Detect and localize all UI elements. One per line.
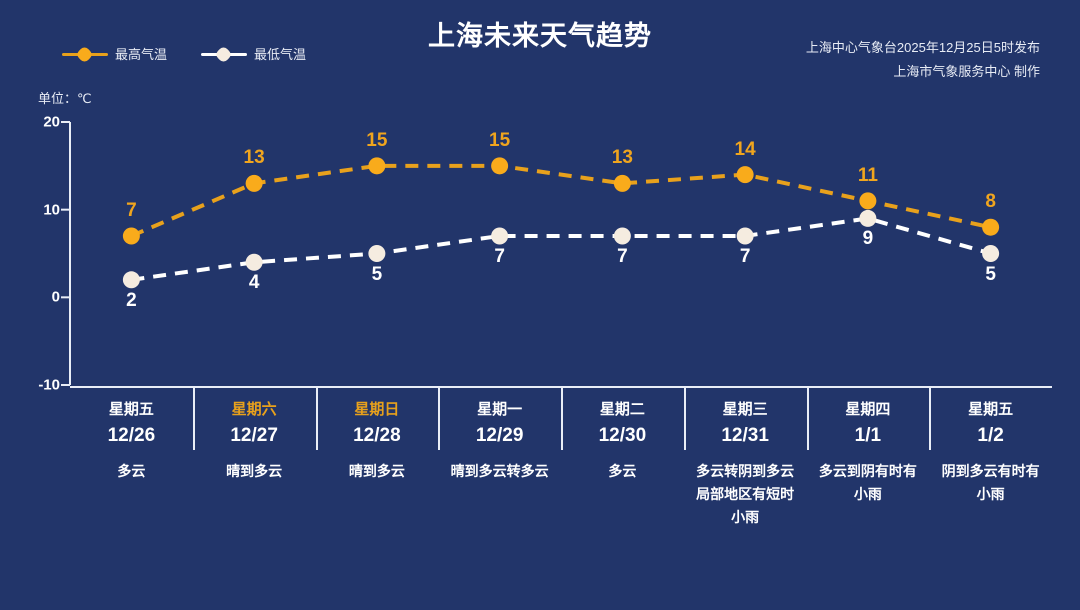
forecast-description: 晴到多云 bbox=[322, 460, 433, 483]
data-point-low-12/30 bbox=[614, 227, 631, 244]
forecast-weekday: 星期四 bbox=[813, 398, 924, 422]
forecast-column-12-27: 星期六12/27晴到多云 bbox=[193, 388, 316, 568]
forecast-weekday: 星期五 bbox=[935, 398, 1046, 422]
data-point-high-1/1 bbox=[859, 192, 876, 209]
forecast-column-12-30: 星期二12/30多云 bbox=[561, 388, 684, 568]
value-label-high-12/29: 15 bbox=[470, 130, 530, 152]
forecast-weekday: 星期六 bbox=[199, 398, 310, 422]
forecast-weekday: 星期一 bbox=[444, 398, 555, 422]
value-label-high-12/30: 13 bbox=[592, 147, 652, 169]
data-point-low-12/31 bbox=[737, 227, 754, 244]
data-point-low-12/26 bbox=[123, 271, 140, 288]
value-label-high-1/2: 8 bbox=[961, 191, 1021, 213]
forecast-date: 12/27 bbox=[199, 422, 310, 450]
forecast-column-1-1: 星期四1/1多云到阴有时有小雨 bbox=[807, 388, 930, 568]
forecast-column-1-2: 星期五1/2阴到多云有时有小雨 bbox=[929, 388, 1052, 568]
value-label-high-1/1: 11 bbox=[838, 165, 898, 187]
data-point-high-1/2 bbox=[982, 219, 999, 236]
data-point-high-12/27 bbox=[246, 175, 263, 192]
forecast-description: 阴到多云有时有小雨 bbox=[935, 460, 1046, 506]
value-label-low-12/27: 4 bbox=[224, 272, 284, 294]
forecast-description: 晴到多云转多云 bbox=[444, 460, 555, 483]
forecast-column-12-26: 星期五12/26多云 bbox=[70, 388, 193, 568]
data-point-low-12/29 bbox=[491, 227, 508, 244]
forecast-description: 多云转阴到多云局部地区有短时小雨 bbox=[690, 460, 801, 529]
value-label-low-12/28: 5 bbox=[347, 264, 407, 286]
forecast-date: 12/29 bbox=[444, 422, 555, 450]
forecast-date: 12/26 bbox=[76, 422, 187, 450]
value-label-low-12/29: 7 bbox=[470, 246, 530, 268]
data-point-high-12/28 bbox=[368, 157, 385, 174]
forecast-description: 多云到阴有时有小雨 bbox=[813, 460, 924, 506]
value-label-low-1/1: 9 bbox=[838, 228, 898, 250]
data-point-low-1/1 bbox=[859, 210, 876, 227]
data-point-low-12/28 bbox=[368, 245, 385, 262]
data-point-high-12/26 bbox=[123, 227, 140, 244]
forecast-table: 星期五12/26多云星期六12/27晴到多云星期日12/28晴到多云星期一12/… bbox=[70, 386, 1052, 568]
forecast-date: 12/30 bbox=[567, 422, 678, 450]
data-point-low-1/2 bbox=[982, 245, 999, 262]
forecast-description: 多云 bbox=[76, 460, 187, 483]
forecast-column-12-29: 星期一12/29晴到多云转多云 bbox=[438, 388, 561, 568]
forecast-weekday: 星期日 bbox=[322, 398, 433, 422]
value-label-high-12/31: 14 bbox=[715, 139, 775, 161]
forecast-column-12-31: 星期三12/31多云转阴到多云局部地区有短时小雨 bbox=[684, 388, 807, 568]
forecast-description: 多云 bbox=[567, 460, 678, 483]
value-label-low-12/26: 2 bbox=[101, 290, 161, 312]
forecast-weekday: 星期二 bbox=[567, 398, 678, 422]
forecast-weekday: 星期五 bbox=[76, 398, 187, 422]
value-label-high-12/26: 7 bbox=[101, 200, 161, 222]
forecast-date: 12/31 bbox=[690, 422, 801, 450]
data-point-high-12/29 bbox=[491, 157, 508, 174]
value-label-low-1/2: 5 bbox=[961, 264, 1021, 286]
value-label-low-12/30: 7 bbox=[592, 246, 652, 268]
forecast-date: 12/28 bbox=[322, 422, 433, 450]
data-point-high-12/30 bbox=[614, 175, 631, 192]
data-point-low-12/27 bbox=[246, 254, 263, 271]
forecast-weekday: 星期三 bbox=[690, 398, 801, 422]
value-label-high-12/27: 13 bbox=[224, 147, 284, 169]
weather-trend-infographic: 上海未来天气趋势 上海中心气象台2025年12月25日5时发布 上海市气象服务中… bbox=[0, 0, 1080, 610]
forecast-description: 晴到多云 bbox=[199, 460, 310, 483]
value-label-low-12/31: 7 bbox=[715, 246, 775, 268]
value-label-high-12/28: 15 bbox=[347, 130, 407, 152]
forecast-date: 1/1 bbox=[813, 422, 924, 450]
forecast-date: 1/2 bbox=[935, 422, 1046, 450]
data-point-high-12/31 bbox=[737, 166, 754, 183]
forecast-column-12-28: 星期日12/28晴到多云 bbox=[316, 388, 439, 568]
